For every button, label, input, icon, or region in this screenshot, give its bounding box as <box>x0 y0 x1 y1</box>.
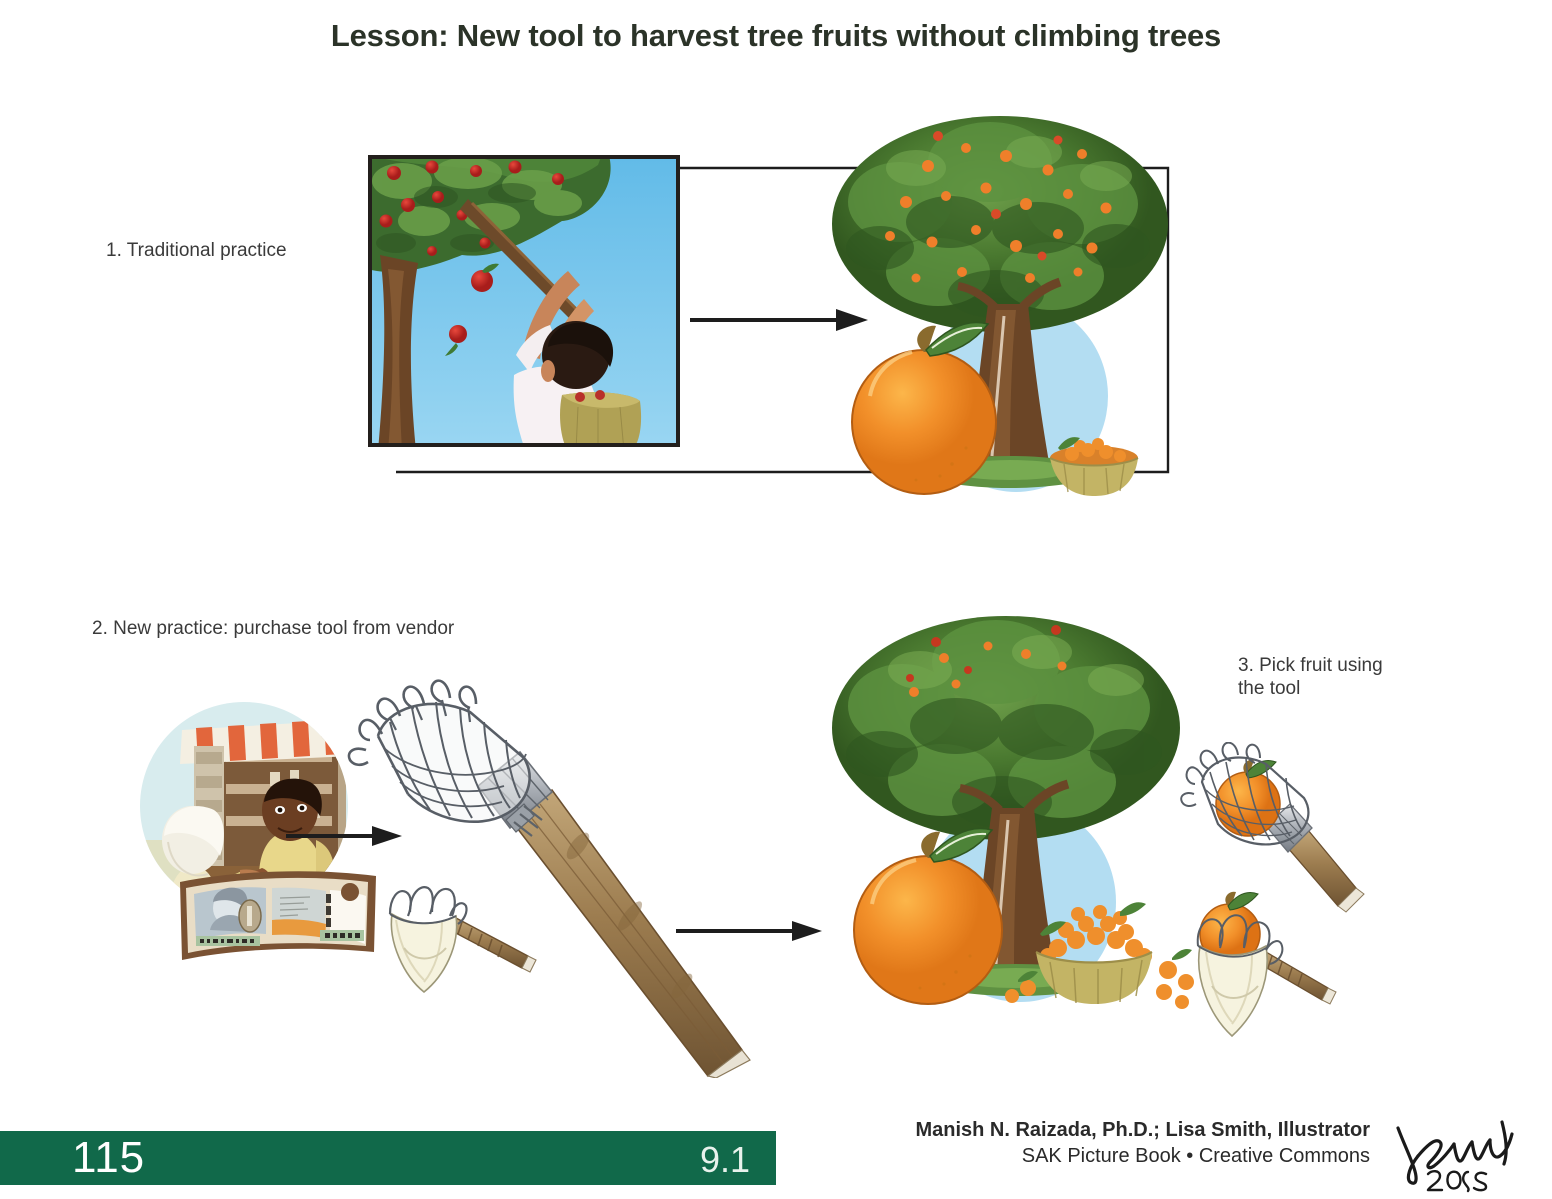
arrow-right-icon-tool <box>676 919 822 943</box>
illustration-picking-with-tools <box>1180 742 1430 1072</box>
cloth-picker-with-orange <box>1198 892 1336 1036</box>
illustrator-signature <box>1384 1112 1524 1194</box>
short-pole <box>450 918 536 972</box>
signature-year <box>1428 1171 1486 1191</box>
page-number: 115 <box>72 1133 145 1183</box>
credits-line-1: Manish N. Raizada, Ph.D.; Lisa Smith, Il… <box>915 1117 1370 1143</box>
slide-canvas: Lesson: New tool to harvest tree fruits … <box>0 0 1552 1199</box>
illustration-orange-tree-small-harvest <box>820 96 1180 526</box>
page-title: Lesson: New tool to harvest tree fruits … <box>0 18 1552 54</box>
canopy <box>832 116 1168 332</box>
canopy <box>832 616 1180 840</box>
illustration-traditional-practice <box>368 155 680 447</box>
step-label-new-practice: 2. New practice: purchase tool from vend… <box>92 617 454 640</box>
basket-of-oranges <box>1050 437 1138 496</box>
step-label-pick-fruit: 3. Pick fruit using the tool <box>1238 654 1383 700</box>
illustration-orange-tree-full-harvest <box>820 596 1200 1036</box>
credits-line-2: SAK Picture Book • Creative Commons <box>915 1143 1370 1169</box>
wire-basket <box>349 681 530 822</box>
section-number: 9.1 <box>700 1139 750 1181</box>
cloth-bag <box>391 914 456 992</box>
wire-picker-with-orange <box>1181 743 1364 912</box>
step-label-traditional-practice: 1. Traditional practice <box>106 239 287 262</box>
illustration-cloth-bag-picker-tool <box>378 872 538 1002</box>
credits: Manish N. Raizada, Ph.D.; Lisa Smith, Il… <box>915 1117 1370 1170</box>
